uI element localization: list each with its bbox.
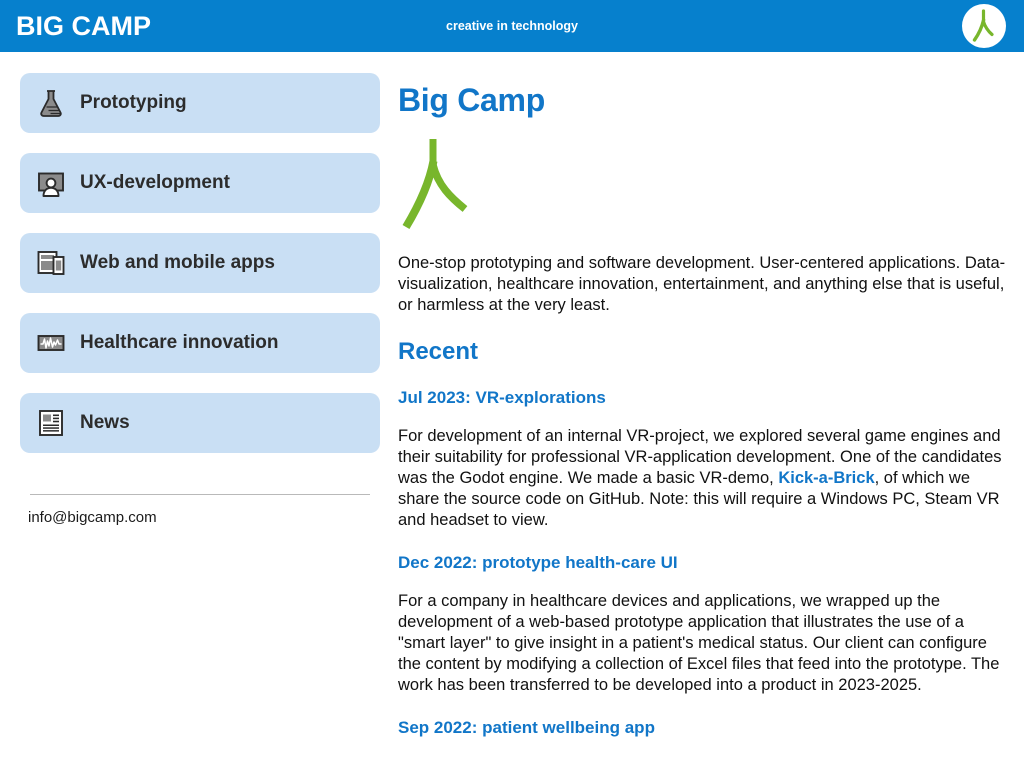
sidebar-item-news[interactable]: News xyxy=(20,393,380,453)
sidebar-item-web-and-mobile-apps[interactable]: Web and mobile apps xyxy=(20,233,380,293)
sidebar-nav: Prototyping UX-development Web and mobil… xyxy=(0,52,400,768)
news-post: Jul 2023: VR-explorations For developmen… xyxy=(398,388,1016,531)
sidebar-item-healthcare-innovation[interactable]: Healthcare innovation xyxy=(20,313,380,373)
news-post: Sep 2022: patient wellbeing app xyxy=(398,718,1016,738)
post-title[interactable]: Jul 2023: VR-explorations xyxy=(398,388,1016,408)
news-post: Dec 2022: prototype health-care UI For a… xyxy=(398,553,1016,696)
devices-window-icon xyxy=(34,246,68,280)
sidebar-item-label: Web and mobile apps xyxy=(80,252,275,274)
kick-a-brick-link[interactable]: Kick-a-Brick xyxy=(778,469,874,487)
bigcamp-person-logo-hero-icon xyxy=(400,135,480,235)
ecg-monitor-icon xyxy=(34,326,68,360)
page-title: Big Camp xyxy=(398,82,1016,119)
site-header: BIG CAMP creative in technology xyxy=(0,0,1024,52)
post-title[interactable]: Dec 2022: prototype health-care UI xyxy=(398,553,1016,573)
sidebar-divider xyxy=(30,494,370,495)
sidebar-item-label: Healthcare innovation xyxy=(80,332,279,354)
sidebar-item-prototyping[interactable]: Prototyping xyxy=(20,73,380,133)
site-tagline: creative in technology xyxy=(0,19,1024,33)
post-body: For a company in healthcare devices and … xyxy=(398,591,1006,696)
post-body: For development of an internal VR-projec… xyxy=(398,426,1006,531)
main-content: Big Camp One-stop prototyping and softwa… xyxy=(398,52,1024,768)
sidebar-item-label: UX-development xyxy=(80,172,230,194)
flask-icon xyxy=(34,86,68,120)
newspaper-icon xyxy=(34,406,68,440)
post-title[interactable]: Sep 2022: patient wellbeing app xyxy=(398,718,1016,738)
intro-paragraph: One-stop prototyping and software develo… xyxy=(398,253,1006,316)
sidebar-item-label: News xyxy=(80,412,130,434)
bigcamp-person-logo-icon[interactable] xyxy=(962,4,1006,48)
recent-section-heading: Recent xyxy=(398,338,1016,366)
sidebar-item-label: Prototyping xyxy=(80,92,187,114)
monitor-person-icon xyxy=(34,166,68,200)
contact-email-link[interactable]: info@bigcamp.com xyxy=(28,509,157,526)
sidebar-item-ux-development[interactable]: UX-development xyxy=(20,153,380,213)
